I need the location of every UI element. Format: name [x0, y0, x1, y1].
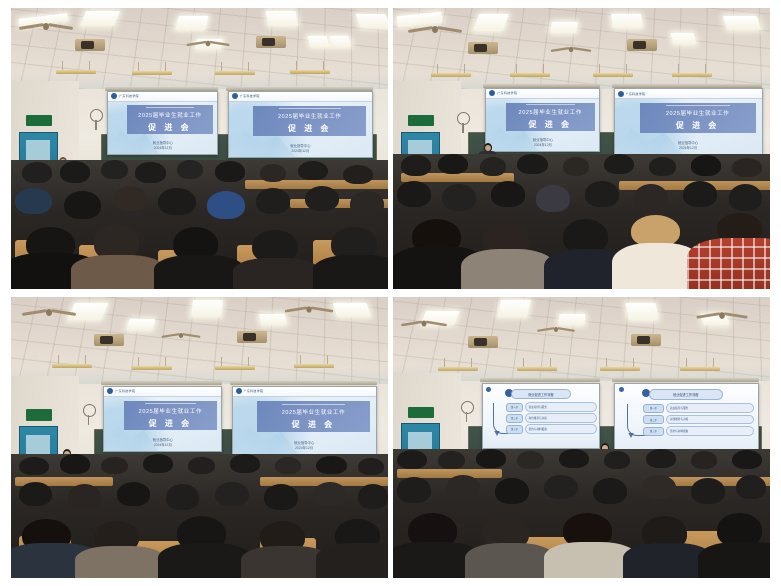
audience	[11, 454, 388, 578]
slide-title-line: 2025届毕业生就业工作	[282, 408, 345, 416]
slide-title-band: 2025届毕业生就业工作 促 进 会	[127, 105, 213, 133]
exit-sign	[26, 115, 52, 126]
slide-title-main: 促 进 会	[148, 122, 191, 133]
title-slide: 广东科技学院 2025届毕业生就业工作 促 进 会 就业指导中心 2024年12…	[108, 92, 217, 154]
audience-head	[438, 451, 464, 469]
diagram-row: 岗位推荐与对接	[666, 415, 754, 424]
diagram-row: 就业指导与服务	[525, 402, 598, 411]
audience-head	[19, 457, 49, 476]
audience-head	[732, 450, 762, 469]
audience-head	[188, 457, 214, 474]
institution-logo-icon	[619, 387, 624, 392]
audience-head	[397, 477, 431, 503]
audience-head	[350, 191, 384, 217]
audience-shoulder	[75, 546, 165, 578]
slide-title-line: 2025届毕业生就业工作	[139, 407, 202, 415]
hanging-light-bar	[600, 367, 640, 371]
audience-head	[585, 181, 619, 207]
slide-title-line: 2025届毕业生就业工作	[138, 111, 201, 119]
audience-shoulder	[465, 543, 555, 578]
audience-shoulder	[233, 258, 320, 289]
projector	[631, 334, 661, 346]
audience-head	[401, 155, 431, 175]
audience-head	[358, 484, 388, 509]
audience-head	[446, 475, 480, 500]
ceiling-lamp	[266, 11, 299, 26]
slide-title-main: 促 进 会	[676, 120, 719, 131]
hanging-light-bar	[52, 364, 92, 368]
slide-divider	[279, 108, 341, 109]
institution-logo-icon	[111, 93, 117, 99]
photo-top-right[interactable]: 广东科技学院 2025届毕业生就业工作 促 进 会 就业指导中心 2024年12…	[393, 8, 770, 289]
audience-head	[68, 484, 102, 510]
ceiling-fan-icon	[285, 306, 334, 314]
audience-head	[495, 478, 529, 504]
audience-head	[517, 451, 543, 469]
diagram-slide: 就业促进工作流程 第一步 第二步 第三步 就业指导与服务 岗位推荐与对接 签约与…	[615, 384, 758, 451]
slide-header: 广东科技学院	[229, 92, 372, 102]
slide-footer: 就业指导中心 2024年12月	[615, 141, 762, 151]
audience-head	[438, 154, 468, 174]
hanging-light-bar	[132, 366, 172, 370]
projector	[75, 39, 105, 51]
projection-screen-left: 广东科技学院 2025届毕业生就业工作 促 进 会 就业指导中心 2024年12…	[103, 386, 222, 453]
hanging-light-bar	[517, 367, 557, 371]
hanging-light-bar	[593, 73, 633, 77]
audience-head	[256, 188, 290, 214]
audience-head	[491, 181, 525, 207]
diagram-step-chip: 第三步	[506, 425, 523, 433]
ceiling-lamp	[671, 33, 696, 44]
institution-logo-icon	[486, 387, 491, 392]
diagram-arrow-icon	[494, 431, 500, 436]
audience-head	[275, 457, 301, 474]
ceiling-lamp	[550, 22, 578, 33]
slide-title-main: 促 进 会	[529, 119, 572, 130]
slide-footer: 就业指导中心 2024年12月	[486, 138, 599, 148]
audience-shoulder	[313, 255, 388, 289]
audience-head	[397, 450, 427, 469]
slide-header: 广东科技学院	[104, 387, 221, 397]
slide-title-line: 2025届毕业生就业工作	[278, 112, 341, 120]
projection-screen-left: 广东科技学院 2025届毕业生就业工作 促 进 会 就业指导中心 2024年12…	[107, 91, 218, 155]
diagram-row: 签约与材料报备	[525, 424, 598, 433]
lecture-hall-scene: 广东科技学院 2025届毕业生就业工作 促 进 会 就业指导中心 2024年12…	[393, 8, 770, 289]
slide-org-name: 广东科技学院	[626, 92, 646, 96]
diagram-row: 就业指导与服务	[666, 403, 754, 412]
slide-divider	[145, 403, 196, 404]
audience-shoulder	[71, 255, 165, 289]
ceiling-lamp	[497, 300, 531, 317]
slide-title-main: 促 进 会	[292, 419, 335, 430]
ceiling-lamp	[307, 36, 329, 47]
ceiling-fan-icon	[408, 25, 462, 34]
slide-org-name: 广东科技学院	[115, 389, 135, 393]
audience-head	[60, 454, 90, 474]
institution-logo-icon	[489, 90, 495, 96]
photo-top-left[interactable]: 广东科技学院 2025届毕业生就业工作 促 进 会 就业指导中心 2024年12…	[11, 8, 388, 289]
audience-head	[691, 478, 725, 504]
title-slide: 广东科技学院 2025届毕业生就业工作 促 进 会 就业指导中心 2024年12…	[104, 387, 221, 452]
audience	[393, 154, 770, 289]
ceiling-lamp	[558, 314, 585, 325]
audience-head	[305, 186, 339, 212]
ceiling-lamp	[333, 303, 371, 317]
slide-header: 广东科技学院	[486, 89, 599, 99]
title-slide: 广东科技学院 2025届毕业生就业工作 促 进 会 就业指导中心 2024年12…	[229, 92, 372, 157]
lecture-hall-scene: 就业促进工作流程 第一步 第二步 第三步 就业指导与服务 岗位推荐与对接 签约与…	[393, 297, 770, 578]
slide-title-main: 促 进 会	[288, 123, 331, 134]
institution-logo-icon	[618, 91, 624, 97]
audience-head	[683, 181, 717, 207]
ceiling-lamp	[625, 303, 658, 320]
hanging-light-bar	[56, 70, 96, 74]
hanging-light-bar	[431, 73, 471, 77]
audience-head	[264, 484, 298, 510]
slide-header: 广东科技学院	[615, 89, 762, 99]
projection-screen-left: 就业促进工作流程 第一步 第二步 第三步 就业指导与服务 岗位推荐与对接 签约与…	[482, 383, 601, 450]
slide-divider	[526, 104, 575, 105]
slide-org-name: 广东科技学院	[497, 91, 517, 95]
slide-footer-date: 2024年12月	[486, 143, 599, 148]
diagram-row: 岗位推荐与对接	[525, 413, 598, 422]
ceiling-fan-icon	[696, 311, 747, 320]
institution-logo-icon	[236, 388, 242, 394]
diagram-step-chip: 第一步	[643, 404, 664, 413]
slide-header: 广东科技学院	[108, 92, 217, 102]
audience-head	[117, 482, 151, 507]
audience-shoulder	[154, 255, 244, 289]
ceiling-fan-icon	[19, 22, 73, 31]
diagram-step-chip: 第一步	[506, 403, 523, 411]
slide-footer-date: 2024年12月	[229, 149, 372, 154]
projection-screen-right: 广东科技学院 2025届毕业生就业工作 促 进 会 就业指导中心 2024年12…	[228, 91, 373, 158]
projector	[94, 334, 124, 346]
diagram-row: 签约与材料报备	[666, 426, 754, 435]
diagram-heading: 就业促进工作流程	[649, 389, 723, 400]
audience-head	[19, 482, 53, 507]
slide-divider	[282, 404, 344, 405]
audience-head	[343, 165, 373, 184]
ceiling-fan-icon	[401, 320, 447, 328]
lecture-hall-scene: 广东科技学院 2025届毕业生就业工作 促 进 会 就业指导中心 2024年12…	[11, 297, 388, 578]
slide-title-band: 2025届毕业生就业工作 促 进 会	[257, 401, 370, 432]
audience-head	[649, 157, 675, 176]
hanging-light-bar	[294, 364, 334, 368]
hanging-light-bar	[680, 367, 720, 371]
audience-head	[691, 451, 717, 469]
audience-head	[559, 449, 589, 468]
audience-head	[642, 475, 676, 500]
slide-footer-date: 2024年12月	[615, 146, 762, 151]
audience-head	[64, 191, 102, 219]
institution-logo-icon	[107, 388, 113, 394]
audience-head	[215, 482, 249, 507]
audience-head	[517, 154, 547, 174]
audience-head	[316, 456, 346, 475]
wall-clock-icon	[461, 401, 474, 414]
projector	[468, 336, 498, 348]
ceiling-lamp	[126, 319, 155, 330]
hanging-light-bar	[510, 73, 550, 77]
slide-title-line: 2025届毕业生就业工作	[519, 108, 582, 116]
audience-head	[158, 188, 196, 215]
slide-header: 广东科技学院	[233, 387, 376, 397]
hanging-light-bar	[672, 73, 712, 77]
ceiling-lamp	[259, 314, 287, 325]
audience-head	[604, 451, 630, 469]
audience-head	[177, 160, 203, 179]
audience-head	[736, 475, 766, 500]
hanging-light-bar	[215, 366, 255, 370]
title-slide: 广东科技学院 2025届毕业生就业工作 促 进 会 就业指导中心 2024年12…	[233, 387, 376, 454]
diagram-heading: 就业促进工作流程	[511, 389, 571, 399]
exit-sign	[408, 115, 434, 126]
ceiling-fan-icon	[537, 326, 575, 332]
audience-head	[476, 449, 506, 468]
projector	[468, 42, 498, 54]
diagram-step-chip: 第二步	[506, 414, 523, 422]
projector	[627, 39, 657, 51]
slide-title-band: 2025届毕业生就业工作 促 进 会	[253, 106, 366, 136]
projection-screen-left: 广东科技学院 2025届毕业生就业工作 促 进 会 就业指导中心 2024年12…	[485, 88, 600, 152]
audience-head	[691, 155, 721, 175]
ceiling-fan-icon	[162, 332, 201, 338]
slide-footer-date: 2024年12月	[104, 443, 221, 448]
audience-head	[442, 184, 476, 211]
diagram-step-chip: 第二步	[643, 415, 664, 424]
exit-sign	[26, 409, 52, 420]
audience-head	[22, 162, 52, 183]
audience-head	[313, 482, 347, 507]
audience-head	[101, 160, 127, 179]
audience-head	[15, 188, 53, 214]
projector	[256, 36, 286, 48]
audience-head	[60, 161, 90, 183]
lecture-hall-scene: 广东科技学院 2025届毕业生就业工作 促 进 会 就业指导中心 2024年12…	[11, 8, 388, 289]
slide-title-line: 2025届毕业生就业工作	[666, 109, 729, 117]
audience-head	[536, 185, 570, 212]
slide-divider	[146, 107, 194, 108]
ceiling-lamp	[473, 14, 509, 31]
diagram-slide: 就业促进工作流程 第一步 第二步 第三步 就业指导与服务 岗位推荐与对接 签约与…	[483, 384, 600, 449]
audience-shoulder	[461, 249, 555, 289]
audience-shoulder	[158, 543, 252, 578]
diagram-step-chip: 第三步	[643, 427, 664, 436]
audience-head	[732, 158, 762, 177]
wall-clock-icon	[83, 404, 96, 417]
projection-screen-right: 就业促进工作流程 第一步 第二步 第三步 就业指导与服务 岗位推荐与对接 签约与…	[614, 383, 759, 452]
slide-org-name: 广东科技学院	[119, 94, 139, 98]
title-slide: 广东科技学院 2025届毕业生就业工作 促 进 会 就业指导中心 2024年12…	[486, 89, 599, 151]
audience-head-plaid	[687, 238, 770, 289]
audience-head	[358, 458, 384, 475]
audience-shoulder	[316, 543, 388, 578]
ceiling-lamp	[330, 36, 352, 47]
diagram-arrow-icon	[628, 433, 634, 438]
slide-org-name: 广东科技学院	[240, 94, 260, 98]
slide-footer: 就业指导中心 2024年12月	[229, 144, 372, 154]
wall-clock-icon	[457, 112, 470, 125]
hanging-light-bar	[438, 367, 478, 371]
audience-head	[397, 181, 431, 207]
audience-head	[593, 478, 627, 504]
slide-footer-date: 2024年12月	[108, 146, 217, 151]
audience-head	[101, 457, 127, 474]
slide-title-main: 促 进 会	[149, 418, 192, 429]
audience-head	[298, 161, 328, 180]
projection-screen-right: 广东科技学院 2025届毕业生就业工作 促 进 会 就业指导中心 2024年12…	[232, 386, 377, 455]
hanging-light-bar	[290, 70, 330, 74]
ceiling-fan-icon	[22, 308, 76, 317]
audience-head	[544, 475, 578, 500]
ceiling-fan-icon	[551, 46, 592, 53]
audience-head	[634, 184, 668, 211]
slide-title-band: 2025届毕业生就业工作 促 进 会	[506, 103, 595, 131]
slide-footer-date: 2024年12月	[233, 446, 376, 451]
slide-footer: 就业指导中心 2024年12月	[108, 141, 217, 151]
slide-footer: 就业指导中心 2024年12月	[104, 438, 221, 448]
slide-title-band: 2025届毕业生就业工作 促 进 会	[640, 103, 756, 133]
projection-screen-right: 广东科技学院 2025届毕业生就业工作 促 进 会 就业指导中心 2024年12…	[614, 88, 763, 155]
photo-grid: 广东科技学院 2025届毕业生就业工作 促 进 会 就业指导中心 2024年12…	[11, 8, 770, 578]
presenter-face	[485, 145, 491, 151]
audience-head	[230, 454, 260, 473]
institution-logo-icon	[232, 93, 238, 99]
audience-head	[646, 449, 676, 468]
audience	[11, 160, 388, 289]
slide-title-band: 2025届毕业生就业工作 促 进 会	[124, 401, 216, 431]
title-slide: 广东科技学院 2025届毕业生就业工作 促 进 会 就业指导中心 2024年12…	[615, 89, 762, 154]
hanging-light-bar	[215, 71, 255, 75]
audience-head	[729, 184, 763, 211]
photo-bottom-right[interactable]: 就业促进工作流程 第一步 第二步 第三步 就业指导与服务 岗位推荐与对接 签约与…	[393, 297, 770, 578]
ceiling-lamp	[722, 16, 760, 30]
slide-footer: 就业指导中心 2024年12月	[233, 441, 376, 451]
audience-shoulder	[698, 542, 770, 578]
hanging-light-bar	[132, 71, 172, 75]
audience	[393, 449, 770, 578]
audience-head	[143, 454, 173, 473]
ceiling-lamp	[80, 11, 120, 26]
audience-head	[207, 191, 245, 219]
ceiling-fan-icon	[186, 40, 229, 47]
audience-head	[166, 484, 200, 510]
audience-head	[604, 154, 634, 174]
photo-bottom-left[interactable]: 广东科技学院 2025届毕业生就业工作 促 进 会 就业指导中心 2024年12…	[11, 297, 388, 578]
ceiling-lamp	[191, 300, 223, 317]
audience-head	[480, 157, 506, 176]
ceiling-lamp	[175, 16, 209, 30]
ceiling-lamp	[355, 14, 388, 28]
audience-head	[563, 157, 589, 176]
exit-sign	[408, 407, 434, 418]
audience-head	[260, 164, 286, 182]
ceiling-lamp	[611, 14, 643, 28]
slide-divider	[666, 105, 730, 106]
slide-org-name: 广东科技学院	[244, 389, 264, 393]
audience-head	[113, 186, 147, 212]
audience-head	[135, 162, 165, 183]
projector	[237, 331, 267, 343]
audience-head	[215, 161, 245, 182]
